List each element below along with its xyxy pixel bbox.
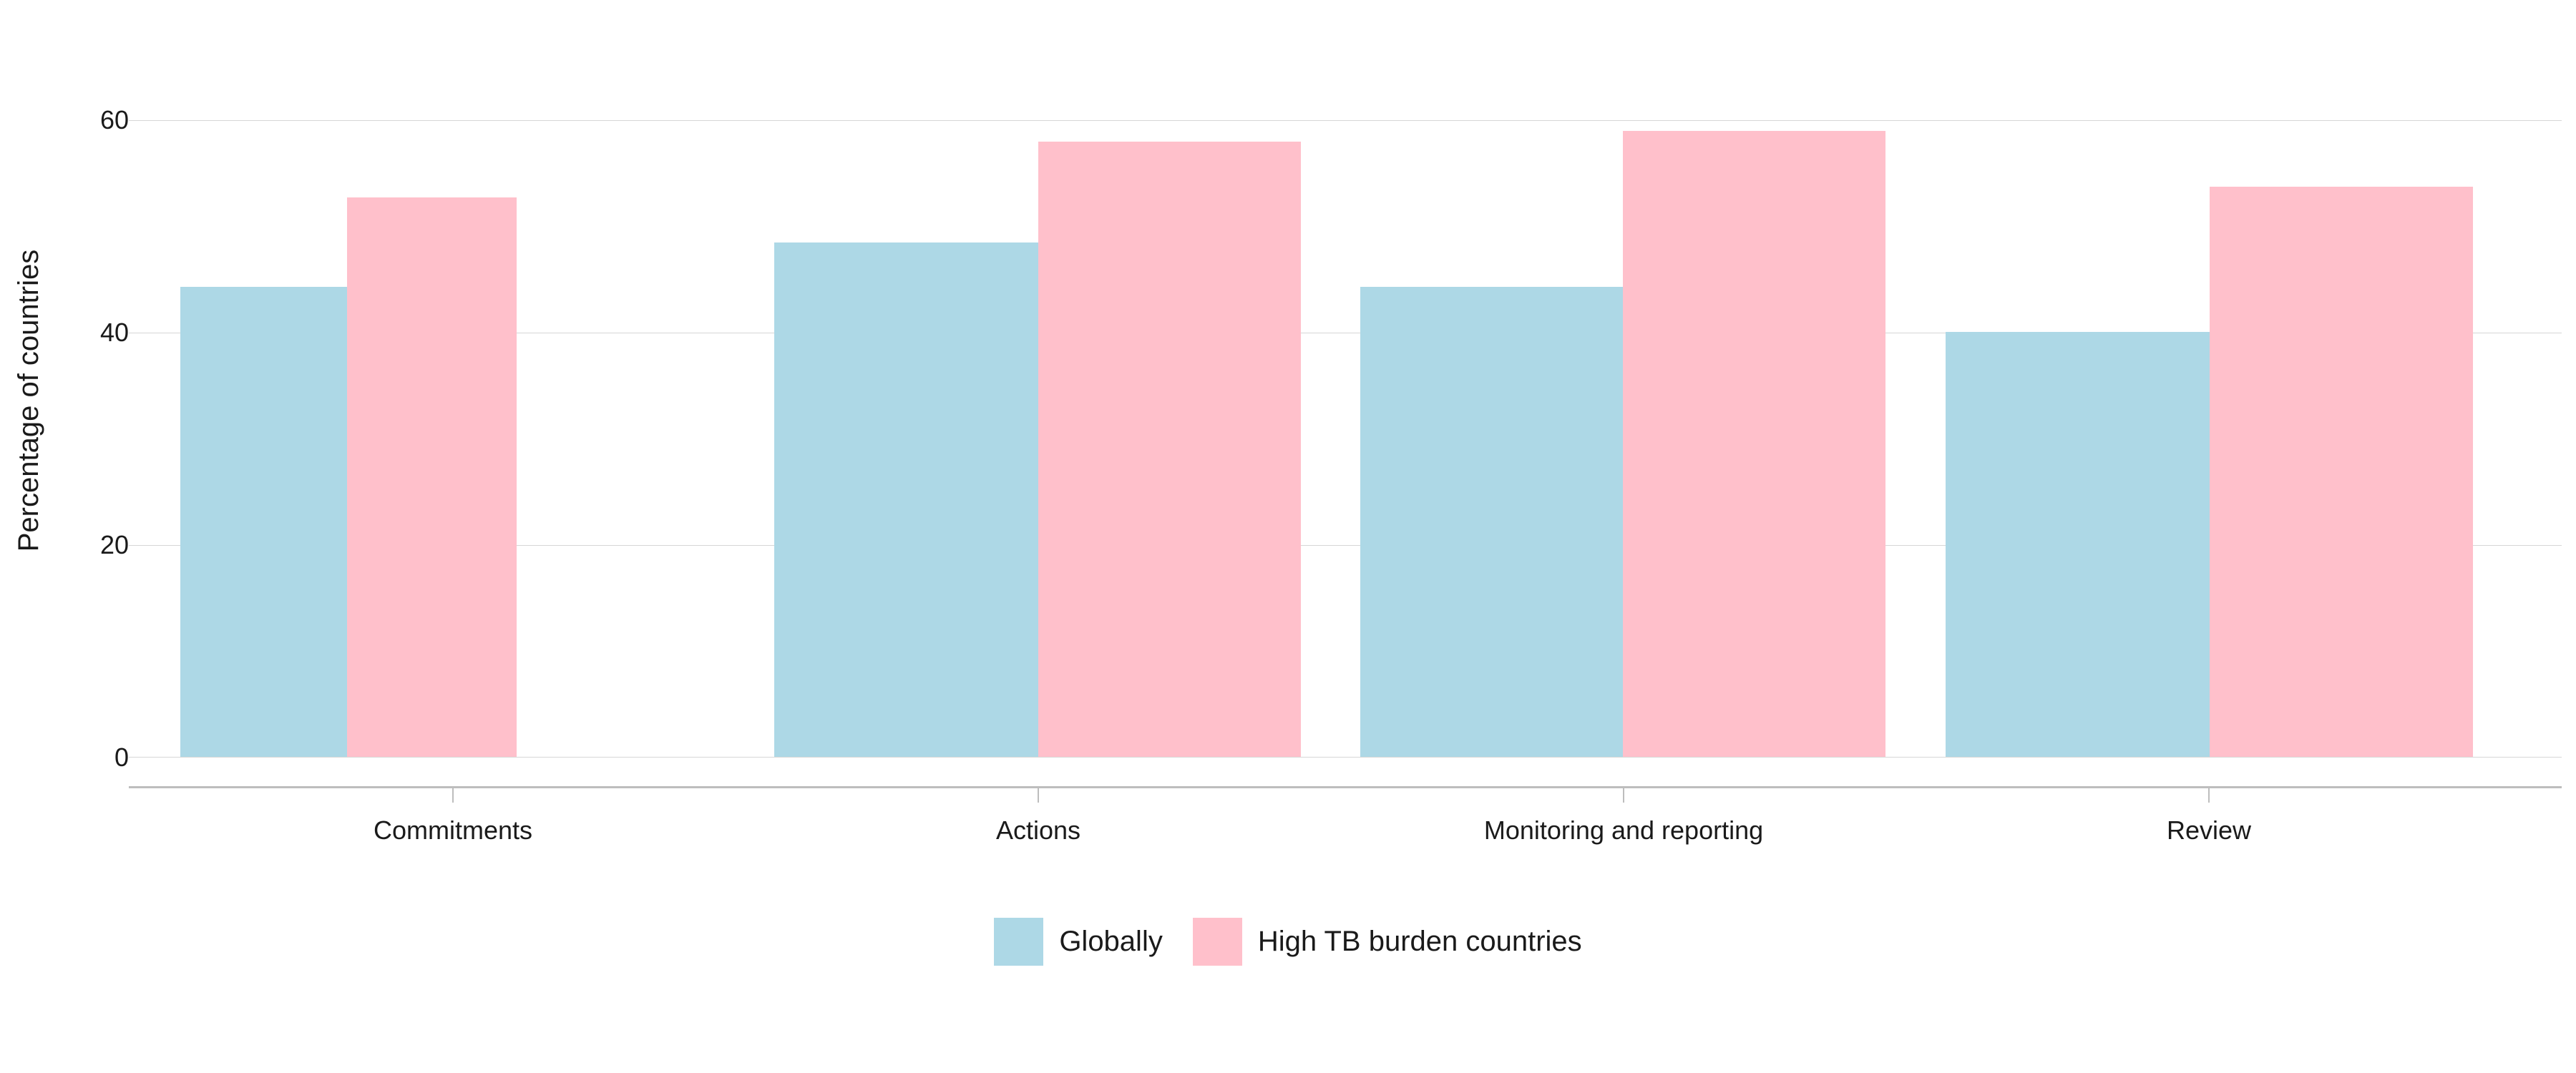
bar-globally-review: [1946, 332, 2210, 757]
y-tick-label-60: 60: [43, 107, 129, 133]
gridline-60: [129, 120, 2562, 121]
plot-area: [129, 86, 2562, 757]
bar-globally-monitoring: [1360, 287, 1623, 757]
legend: Globally High TB burden countries: [0, 918, 2576, 966]
x-tick-label-commitments: Commitments: [374, 815, 532, 846]
bar-globally-commitments: [180, 287, 347, 757]
x-tick-label-review: Review: [2167, 815, 2251, 846]
gridline-0: [129, 757, 2562, 758]
legend-item-globally[interactable]: Globally: [994, 918, 1163, 966]
legend-label-high-tb-burden-countries: High TB burden countries: [1258, 926, 1582, 958]
y-tick-label-20: 20: [43, 532, 129, 558]
bar-high-tb-review: [2210, 187, 2473, 757]
x-tick-monitoring: [1623, 788, 1624, 803]
x-axis-line: [129, 786, 2562, 788]
x-tick-commitments: [452, 788, 454, 803]
x-tick-label-actions: Actions: [996, 815, 1080, 846]
bar-chart: Percentage of countries 60 40 20 0 Commi…: [0, 0, 2576, 1073]
x-tick-label-monitoring: Monitoring and reporting: [1484, 815, 1763, 846]
bar-high-tb-monitoring: [1623, 131, 1885, 757]
bar-high-tb-commitments: [347, 197, 517, 757]
y-tick-label-40: 40: [43, 320, 129, 346]
legend-swatch-high-tb-burden-countries: [1193, 918, 1242, 966]
legend-swatch-globally: [994, 918, 1043, 966]
legend-item-high-tb-burden-countries[interactable]: High TB burden countries: [1193, 918, 1582, 966]
x-tick-actions: [1038, 788, 1039, 803]
bar-high-tb-actions: [1038, 142, 1301, 757]
legend-label-globally: Globally: [1059, 926, 1163, 958]
x-tick-review: [2208, 788, 2210, 803]
y-tick-label-0: 0: [43, 745, 129, 770]
bar-globally-actions: [774, 242, 1038, 757]
